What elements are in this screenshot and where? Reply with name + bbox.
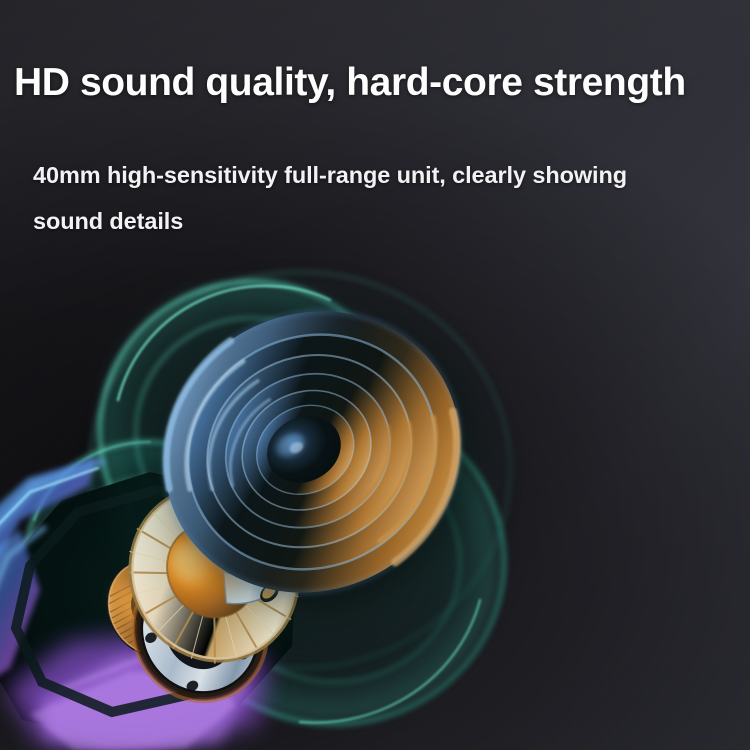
page-subtitle-line-2: sound details (33, 198, 733, 244)
page-subtitle-line-1: 40mm high-sensitivity full-range unit, c… (33, 152, 733, 198)
page-title: HD sound quality, hard-core strength (14, 60, 750, 106)
exploded-speaker-illustration (0, 0, 750, 750)
promo-banner: HD sound quality, hard-core strength 40m… (0, 0, 750, 750)
page-subtitle: 40mm high-sensitivity full-range unit, c… (33, 152, 733, 244)
